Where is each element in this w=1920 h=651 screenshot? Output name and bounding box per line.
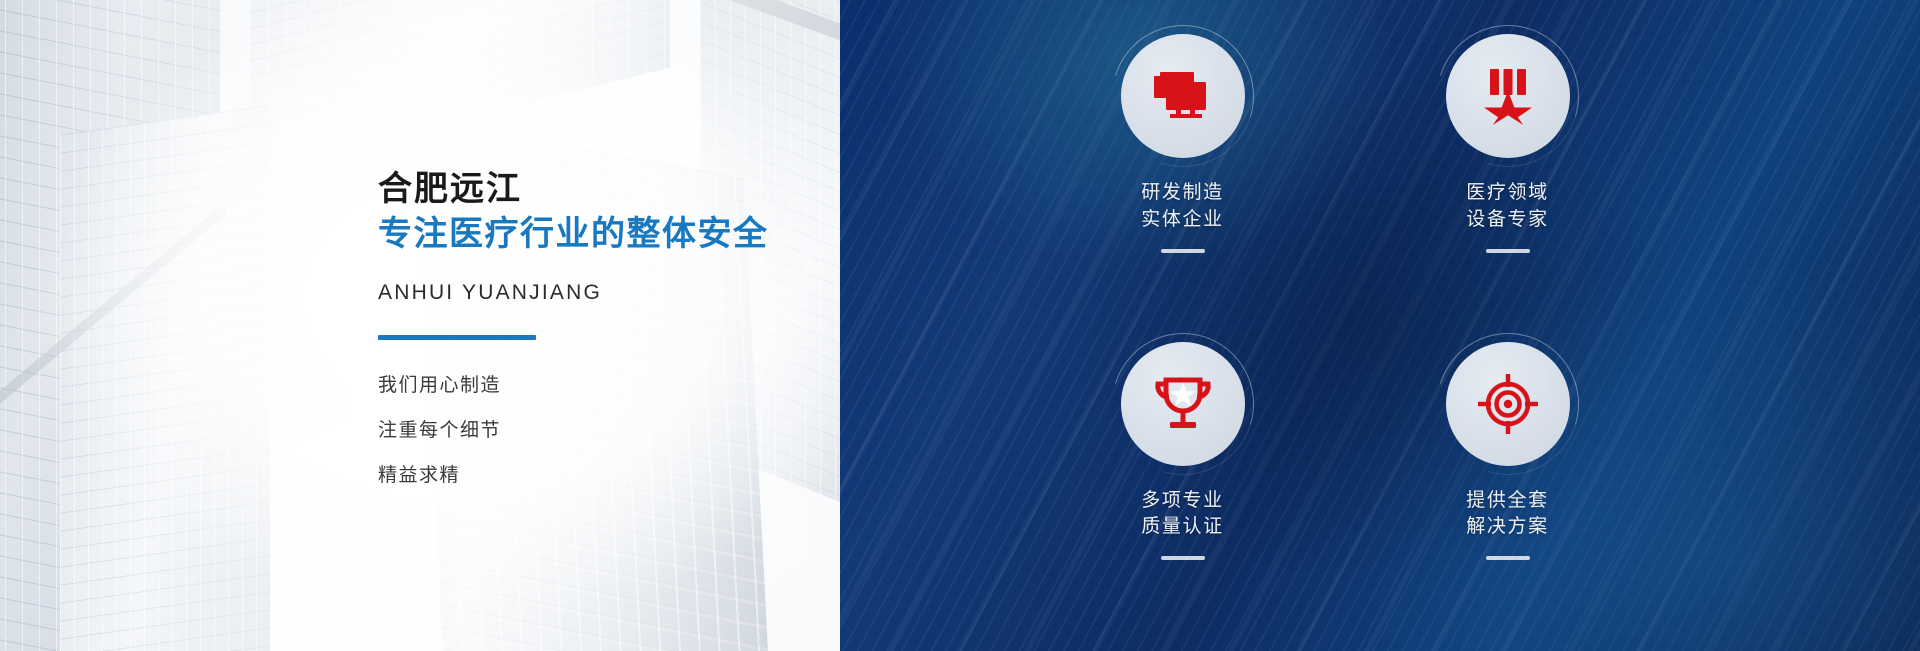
feature-item-medical-expert[interactable]: 医疗领域 设备专家 <box>1345 34 1670 328</box>
feature-label-line2: 设备专家 <box>1466 207 1548 234</box>
company-name-heading: 合肥远江 <box>378 168 808 211</box>
label-underline <box>1486 249 1530 253</box>
left-image-panel: 合肥远江 专注医疗行业的整体安全 ANHUI YUANJIANG 我们用心制造 … <box>0 0 840 651</box>
target-icon <box>1446 342 1570 466</box>
feature-label-line2: 质量认证 <box>1141 514 1223 541</box>
feature-item-rd-manufacturing[interactable]: 研发制造 实体企业 <box>1020 34 1345 328</box>
feature-label: 多项专业 质量认证 <box>1141 488 1223 542</box>
feature-label-line2: 解决方案 <box>1466 514 1548 541</box>
label-underline <box>1161 556 1205 560</box>
feature-label-line2: 实体企业 <box>1141 207 1223 234</box>
feature-label: 研发制造 实体企业 <box>1141 180 1223 234</box>
feature-item-full-solution[interactable]: 提供全套 解决方案 <box>1345 328 1670 622</box>
feature-label-line1: 多项专业 <box>1141 488 1223 515</box>
factory-icon <box>1121 34 1245 158</box>
accent-divider <box>378 335 536 340</box>
icon-wrapper <box>1446 342 1570 466</box>
company-tagline-heading: 专注医疗行业的整体安全 <box>378 213 808 256</box>
description-line: 我们用心制造 <box>378 376 808 395</box>
label-underline <box>1486 556 1530 560</box>
feature-grid: 研发制造 实体企业 <box>840 0 1920 651</box>
feature-label-line1: 医疗领域 <box>1466 180 1548 207</box>
feature-item-quality-certification[interactable]: 多项专业 质量认证 <box>1020 328 1345 622</box>
feature-label: 医疗领域 设备专家 <box>1466 180 1548 234</box>
trophy-icon <box>1121 342 1245 466</box>
description-list: 我们用心制造 注重每个细节 精益求精 <box>378 376 808 485</box>
description-line: 注重每个细节 <box>378 421 808 440</box>
hero-banner: 合肥远江 专注医疗行业的整体安全 ANHUI YUANJIANG 我们用心制造 … <box>0 0 1920 651</box>
right-feature-panel: 研发制造 实体企业 <box>840 0 1920 651</box>
medal-star-icon <box>1446 34 1570 158</box>
feature-label: 提供全套 解决方案 <box>1466 488 1548 542</box>
company-name-pinyin: ANHUI YUANJIANG <box>378 281 808 305</box>
feature-label-line1: 提供全套 <box>1466 488 1548 515</box>
icon-wrapper <box>1121 34 1245 158</box>
icon-wrapper <box>1446 34 1570 158</box>
description-line: 精益求精 <box>378 466 808 485</box>
label-underline <box>1161 249 1205 253</box>
feature-label-line1: 研发制造 <box>1141 180 1223 207</box>
left-text-block: 合肥远江 专注医疗行业的整体安全 ANHUI YUANJIANG 我们用心制造 … <box>378 168 808 485</box>
icon-wrapper <box>1121 342 1245 466</box>
